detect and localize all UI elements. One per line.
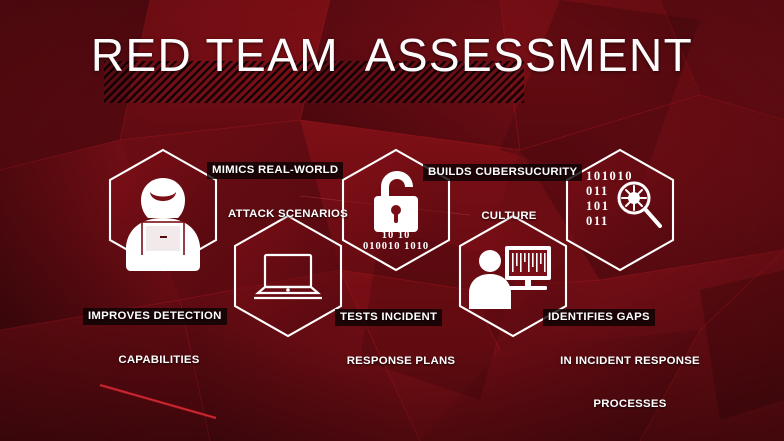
binary-line-1: 101010 [586, 169, 633, 183]
padlock-binary-bottom: 010010 1010 [363, 241, 429, 252]
hex-node-improves-detection[interactable] [110, 150, 216, 271]
label-line: RESPONSE PLANS [347, 354, 456, 368]
label-line: CAPABILITIES [118, 353, 199, 367]
page-title: RED TEAM ASSESSMENT [0, 18, 784, 92]
laptop-trackpad-dot [286, 288, 290, 292]
padlock-binary-top: 10 10 [382, 230, 411, 241]
label-mimics-real-world: MIMICS REAL-WORLD ATTACK SCENARIOS [212, 134, 364, 250]
label-tests-incident-response: TESTS INCIDENT RESPONSE PLANS [340, 281, 462, 397]
label-line: MIMICS REAL-WORLD [207, 162, 343, 178]
label-line: PROCESSES [593, 397, 666, 411]
label-line: IN INCIDENT RESPONSE [560, 354, 700, 368]
title-block: RED TEAM ASSESSMENT [0, 18, 784, 96]
label-line: CULTURE [481, 209, 536, 223]
label-line: ATTACK SCENARIOS [228, 207, 348, 221]
label-improves-detection: IMPROVES DETECTION CAPABILITIES [88, 280, 230, 396]
virus-glyph [622, 186, 646, 210]
label-builds-cybersecurity-culture: BUILDS CUBERSUCURITY CULTURE [428, 136, 590, 252]
label-line: BUILDS CUBERSUCURITY [423, 164, 582, 180]
slide-canvas: RED TEAM ASSESSMENT [0, 0, 784, 441]
label-line: TESTS INCIDENT [335, 309, 442, 325]
label-line: IMPROVES DETECTION [83, 308, 227, 324]
label-line: IDENTIFIES GAPS [543, 309, 655, 325]
label-identifies-gaps: IDENTIFIES GAPS IN INCIDENT RESPONSE PRO… [548, 281, 712, 439]
